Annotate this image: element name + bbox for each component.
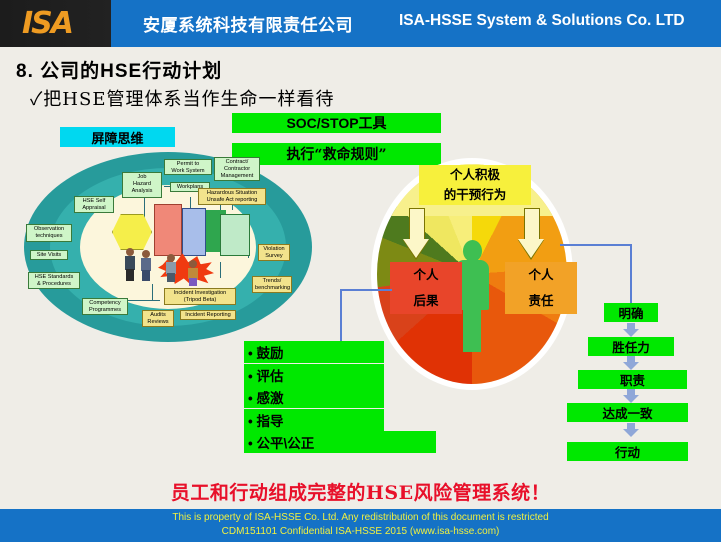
oval-label-text: CompetencyProgrammes	[89, 300, 121, 313]
oval-label-text: ViolationSurvey	[263, 246, 284, 259]
worker-figure	[138, 250, 154, 282]
oval-label-text: Hazardous SituationUnsafe Act reporting	[207, 190, 258, 203]
wheel-label-active-intervention: 个人积极 的干预行为	[419, 165, 531, 205]
list-item: • 鼓励	[244, 341, 384, 363]
flow-arrow-3	[623, 389, 639, 403]
connector-line	[152, 284, 153, 300]
oval-label: Incident Reporting	[180, 310, 236, 320]
oval-label-text: Incident Investigation(Tripod Beta)	[174, 290, 227, 303]
list-item: • 感激	[244, 386, 384, 408]
oval-label: ViolationSurvey	[258, 244, 290, 261]
wheel-label-line2: 后果	[390, 288, 462, 314]
connector-right-horizontal	[560, 244, 632, 246]
oval-label: HSE SelfAppraisal	[74, 196, 114, 213]
oval-label-text: Trends/benchmarking	[255, 278, 290, 291]
worker-figure	[164, 254, 178, 282]
header-company-name-en: ISA-HSSE System & Solutions Co. LTD	[399, 12, 685, 30]
wheel-label-personal-responsibility: 个人 责任	[505, 262, 577, 314]
oval-label: Trends/benchmarking	[252, 276, 292, 293]
slide-title: 8. 公司的HSE行动计划	[16, 56, 222, 83]
oval-label: HSE Standards& Procedures	[28, 272, 80, 289]
footer-line-1: This is property of ISA-HSSE Co. Ltd. An…	[0, 512, 721, 523]
oval-label-text: AuditsReviews	[147, 312, 168, 325]
flow-step-responsibility: 职责	[578, 370, 687, 389]
oval-label: Site Visits	[30, 250, 68, 260]
oval-label: Contract/ContractorManagement	[214, 157, 260, 181]
wheel-label-personal-consequence: 个人 后果	[390, 262, 462, 314]
person-legs	[463, 304, 481, 352]
wheel-label-line1: 个人	[390, 262, 462, 288]
down-arrow-left	[403, 208, 429, 260]
oval-label: JobHazardAnalysis	[122, 172, 162, 198]
oval-label-text: Observationtechniques	[34, 226, 64, 239]
oval-label: Hazardous SituationUnsafe Act reporting	[198, 188, 266, 205]
page-footer: This is property of ISA-HSSE Co. Ltd. An…	[0, 509, 721, 542]
flow-step-clarity: 明确	[604, 303, 658, 322]
barrier-thinking-diagram: JobHazardAnalysis Permit toWork System W…	[24, 152, 312, 342]
oval-label: Incident Investigation(Tripod Beta)	[164, 288, 236, 305]
flow-step-agreement: 达成一致	[567, 403, 688, 422]
connector-left-horizontal	[340, 289, 392, 291]
oval-label: Permit toWork System	[164, 159, 212, 175]
oval-label-text: JobHazardAnalysis	[132, 174, 153, 194]
list-item: • 公平\公正	[244, 431, 436, 453]
oval-label: AuditsReviews	[142, 310, 174, 327]
callout-barrier-thinking: 屏障思维	[60, 127, 175, 147]
isa-logo: ISA	[22, 8, 102, 40]
oval-label-text: Contract/ContractorManagement	[221, 159, 254, 179]
connector-line	[220, 262, 221, 278]
worker-figure	[186, 260, 200, 286]
list-item: • 指导	[244, 409, 384, 431]
wheel-label-line1: 个人积极	[419, 165, 531, 185]
wheel-label-line1: 个人	[505, 262, 577, 288]
down-arrow-right	[518, 208, 544, 260]
oval-label: CompetencyProgrammes	[82, 298, 128, 315]
connector-left-vertical	[340, 289, 342, 341]
oval-label-text: HSE Standards& Procedures	[35, 274, 74, 287]
flow-arrow-1	[623, 323, 639, 337]
list-item: • 评估	[244, 364, 384, 386]
worker-figure	[122, 248, 138, 282]
oval-label: Observationtechniques	[26, 224, 72, 242]
connector-right-vertical	[630, 244, 632, 304]
callout-soc-stop-tool: SOC/STOP工具	[232, 113, 441, 133]
wheel-label-line2: 责任	[505, 288, 577, 314]
oval-label-text: Incident Reporting	[185, 312, 230, 318]
footer-line-2: CDM151101 Confidential ISA-HSSE 2015 (ww…	[0, 526, 721, 537]
oval-label-text: HSE SelfAppraisal	[82, 198, 105, 211]
flow-arrow-4	[623, 423, 639, 437]
oval-label-text: Site Visits	[37, 252, 61, 258]
wheel-label-line2: 的干预行为	[419, 185, 531, 205]
flow-arrow-2	[623, 356, 639, 370]
flow-step-action: 行动	[567, 442, 688, 461]
green-card-shape	[220, 214, 250, 256]
page-header: ISA 安厦系统科技有限责任公司 ISA-HSSE System & Solut…	[0, 0, 721, 47]
blue-card-shape	[182, 208, 206, 256]
red-card-shape	[154, 204, 182, 256]
flow-step-competence: 胜任力	[588, 337, 674, 356]
conclusion-text: 员工和行动组成完整的HSE风险管理系统！	[0, 478, 721, 505]
slide-subtitle: ✓把HSE管理体系当作生命一样看待	[30, 85, 334, 111]
oval-label-text: Permit toWork System	[171, 161, 204, 174]
person-head	[463, 240, 482, 262]
header-company-name-cn: 安厦系统科技有限责任公司	[143, 11, 353, 36]
